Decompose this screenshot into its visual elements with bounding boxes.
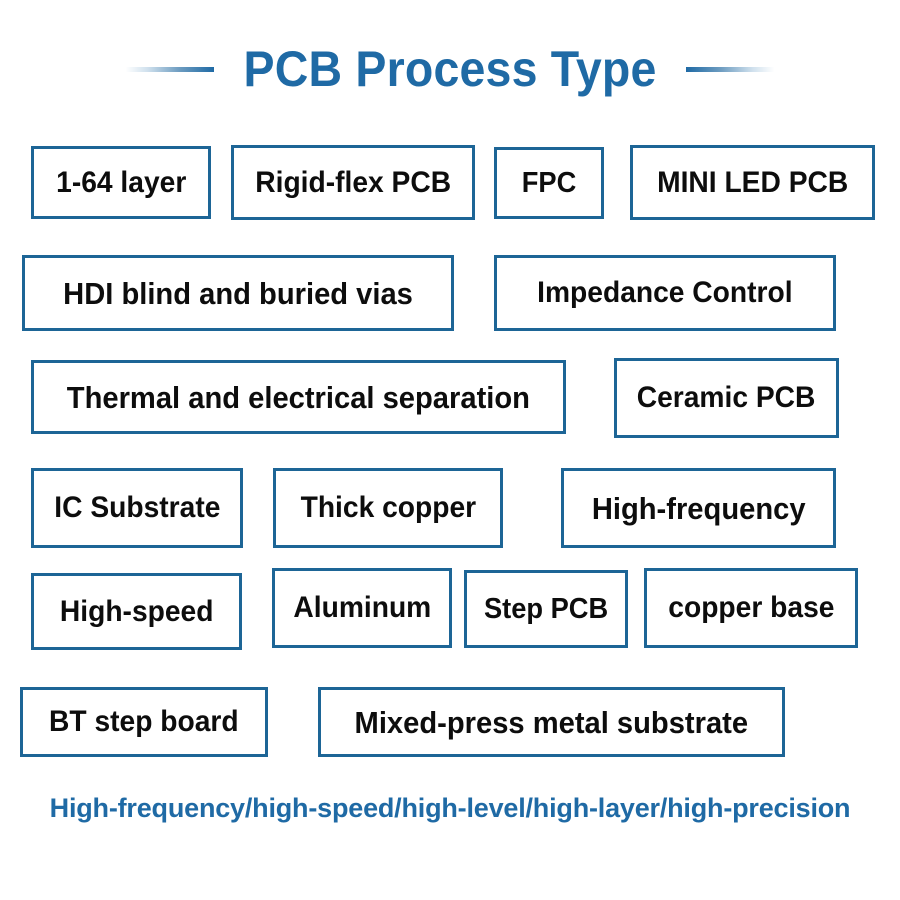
tag-label: Thermal and electrical separation xyxy=(67,382,530,413)
page-title: PCB Process Type xyxy=(243,44,656,94)
tag-fpc[interactable]: FPC xyxy=(494,147,604,219)
tag-label: Step PCB xyxy=(484,595,608,624)
tag-label: Mixed-press metal substrate xyxy=(355,707,749,738)
tag-high-speed[interactable]: High-speed xyxy=(31,573,242,650)
tag-label: copper base xyxy=(668,593,834,623)
tag-high-frequency[interactable]: High-frequency xyxy=(561,468,836,548)
tag-copper-base[interactable]: copper base xyxy=(644,568,858,648)
tag-mixed-press-metal-substrate[interactable]: Mixed-press metal substrate xyxy=(318,687,785,757)
tag-thick-copper[interactable]: Thick copper xyxy=(273,468,503,548)
tag-label: Aluminum xyxy=(293,593,431,623)
tag-step-pcb[interactable]: Step PCB xyxy=(464,570,628,648)
tag-ic-substrate[interactable]: IC Substrate xyxy=(31,468,243,548)
infographic-canvas: PCB Process Type 1-64 layer Rigid-flex P… xyxy=(0,0,900,900)
tag-label: Thick copper xyxy=(300,493,476,523)
tag-thermal-and-electrical-separation[interactable]: Thermal and electrical separation xyxy=(31,360,566,434)
title-rule-left-decoration xyxy=(122,67,214,72)
tag-mini-led-pcb[interactable]: MINI LED PCB xyxy=(630,145,875,220)
tag-label: High-speed xyxy=(60,597,214,627)
tag-ceramic-pcb[interactable]: Ceramic PCB xyxy=(614,358,839,438)
page-title-row: PCB Process Type xyxy=(0,34,900,104)
tag-label: Ceramic PCB xyxy=(637,383,816,413)
tag-label: Rigid-flex PCB xyxy=(255,168,451,198)
tag-bt-step-board[interactable]: BT step board xyxy=(20,687,268,757)
tag-hdi-blind-and-buried-vias[interactable]: HDI blind and buried vias xyxy=(22,255,454,331)
tag-label: IC Substrate xyxy=(54,493,220,523)
tag-impedance-control[interactable]: Impedance Control xyxy=(494,255,836,331)
tag-label: FPC xyxy=(522,169,577,198)
tag-label: HDI blind and buried vias xyxy=(63,278,413,309)
tag-rigid-flex-pcb[interactable]: Rigid-flex PCB xyxy=(231,145,475,220)
tag-label: 1-64 layer xyxy=(56,168,186,198)
tag-label: Impedance Control xyxy=(537,278,792,308)
footer-tagline: High-frequency/high-speed/high-level/hig… xyxy=(0,793,900,824)
tag-1-64-layer[interactable]: 1-64 layer xyxy=(31,146,211,219)
tag-aluminum[interactable]: Aluminum xyxy=(272,568,452,648)
title-rule-right-decoration xyxy=(686,67,778,72)
tag-label: High-frequency xyxy=(592,493,806,524)
tag-label: BT step board xyxy=(49,707,239,737)
tag-label: MINI LED PCB xyxy=(657,168,848,198)
